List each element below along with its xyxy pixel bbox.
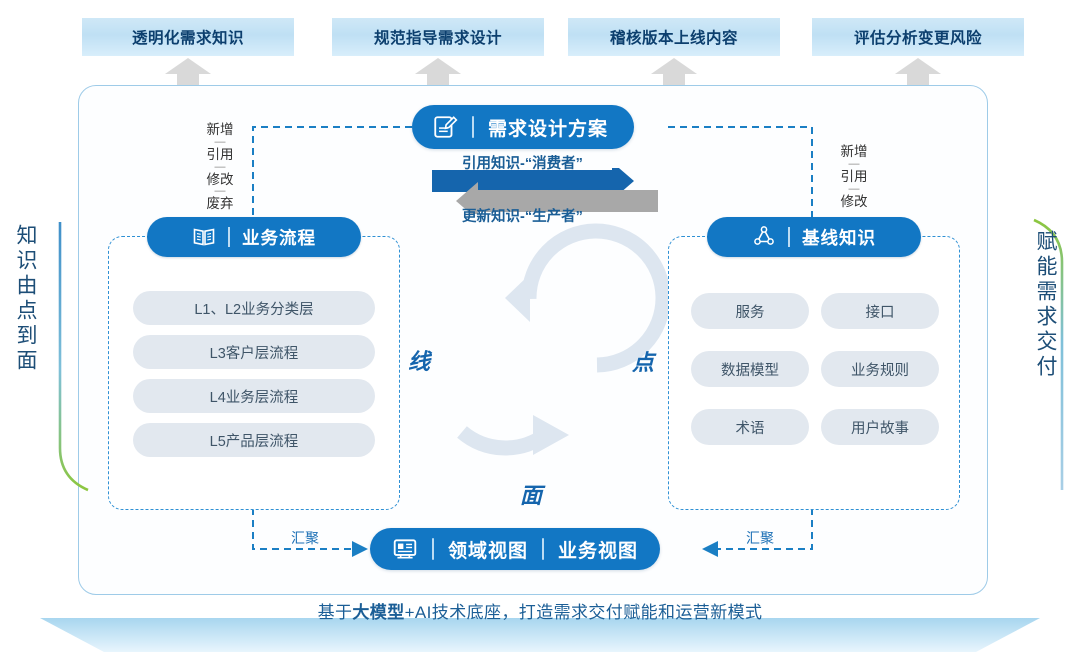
view-label-domain: 领域视图: [448, 536, 528, 563]
outcome-box-2-label: 规范指导需求设计: [374, 26, 502, 48]
process-panel-header[interactable]: 业务流程: [147, 217, 361, 257]
diagram-canvas: 透明化需求知识 规范指导需求设计 稽核版本上线内容 评估分析变更风险: [0, 0, 1080, 664]
right-change-labels: 新增 — 引用 — 修改: [830, 144, 878, 209]
baseline-item-5[interactable]: 术语: [691, 409, 809, 445]
baseline-item-2[interactable]: 接口: [821, 293, 939, 329]
view-pill[interactable]: 领域视图 业务视图: [370, 528, 660, 570]
caption-prefix: 基于: [318, 603, 353, 622]
outcome-box-4[interactable]: 评估分析变更风险: [812, 18, 1024, 56]
process-item-2-label: L3客户层流程: [210, 342, 299, 363]
dash-divider: —: [196, 163, 244, 172]
process-item-4[interactable]: L5产品层流程: [133, 423, 375, 457]
dash-divider: —: [196, 138, 244, 147]
outcome-box-1[interactable]: 透明化需求知识: [82, 18, 294, 56]
caption-suffix: +AI技术底座，打造需求交付赋能和运营新模式: [405, 603, 763, 622]
left-vertical-text: 知识由点到面: [14, 224, 36, 374]
baseline-item-1[interactable]: 服务: [691, 293, 809, 329]
process-panel-title: 业务流程: [242, 225, 316, 250]
baseline-item-5-label: 术语: [736, 417, 765, 438]
scheme-title: 需求设计方案: [488, 114, 608, 141]
process-panel: 业务流程 L1、L2业务分类层 L3客户层流程 L4业务层流程 L5产品层流程: [108, 236, 400, 510]
left-change-label-4: 废弃: [196, 196, 244, 212]
scheme-pill[interactable]: 需求设计方案: [412, 105, 634, 149]
screen-board-icon: [392, 536, 418, 562]
aggregate-left-label: 汇聚: [291, 528, 319, 548]
process-separator: [228, 227, 230, 247]
bottom-caption: 基于大模型+AI技术底座，打造需求交付赋能和运营新模式: [0, 598, 1080, 623]
outcome-box-2[interactable]: 规范指导需求设计: [332, 18, 544, 56]
process-item-1[interactable]: L1、L2业务分类层: [133, 291, 375, 325]
up-arrow-icon-4: [895, 58, 941, 88]
view-label-business: 业务视图: [558, 536, 638, 563]
aggregate-right-label: 汇聚: [746, 528, 774, 548]
outcome-box-3[interactable]: 稽核版本上线内容: [568, 18, 780, 56]
baseline-item-2-label: 接口: [866, 301, 895, 322]
scheme-separator: [472, 116, 474, 138]
exchange-forward-label: 引用知识-“消费者”: [462, 152, 583, 173]
document-edit-icon: [432, 114, 458, 140]
baseline-separator: [788, 227, 790, 247]
right-change-label-3: 修改: [830, 194, 878, 210]
baseline-item-4[interactable]: 业务规则: [821, 351, 939, 387]
cycle-label-point: 点: [632, 345, 654, 377]
baseline-item-1-label: 服务: [736, 301, 765, 322]
outcome-box-4-label: 评估分析变更风险: [854, 26, 982, 48]
dash-divider: —: [830, 160, 878, 169]
baseline-item-6[interactable]: 用户故事: [821, 409, 939, 445]
baseline-item-3[interactable]: 数据模型: [691, 351, 809, 387]
view-separator-1: [432, 538, 434, 560]
up-arrow-icon-2: [415, 58, 461, 88]
exchange-backward-label: 更新知识-“生产者”: [462, 205, 583, 226]
process-item-2[interactable]: L3客户层流程: [133, 335, 375, 369]
process-item-1-label: L1、L2业务分类层: [194, 298, 313, 319]
up-arrow-icon-3: [651, 58, 697, 88]
baseline-panel: 基线知识 服务 接口 数据模型 业务规则 术语 用户故事: [668, 236, 960, 510]
outcome-box-1-label: 透明化需求知识: [132, 26, 244, 48]
right-vertical-text: 赋能需求交付: [1034, 230, 1056, 380]
baseline-item-3-label: 数据模型: [721, 359, 779, 380]
dash-divider: —: [196, 187, 244, 196]
network-nodes-icon: [752, 225, 776, 249]
process-item-3[interactable]: L4业务层流程: [133, 379, 375, 413]
view-separator-2: [542, 538, 544, 560]
cycle-label-line: 线: [408, 344, 430, 376]
outcome-box-3-label: 稽核版本上线内容: [610, 26, 738, 48]
cycle-label-plane: 面: [520, 478, 542, 510]
baseline-item-6-label: 用户故事: [851, 417, 909, 438]
caption-bold: 大模型: [352, 603, 404, 622]
baseline-panel-header[interactable]: 基线知识: [707, 217, 921, 257]
base-platform-shape: [0, 618, 1080, 664]
left-change-labels: 新增 — 引用 — 修改 — 废弃: [196, 122, 244, 212]
baseline-item-4-label: 业务规则: [851, 359, 909, 380]
process-item-3-label: L4业务层流程: [210, 386, 299, 407]
dash-divider: —: [830, 185, 878, 194]
open-book-icon: [192, 225, 216, 249]
baseline-panel-title: 基线知识: [802, 225, 876, 250]
up-arrow-icon-1: [165, 58, 211, 88]
process-item-4-label: L5产品层流程: [210, 430, 299, 451]
